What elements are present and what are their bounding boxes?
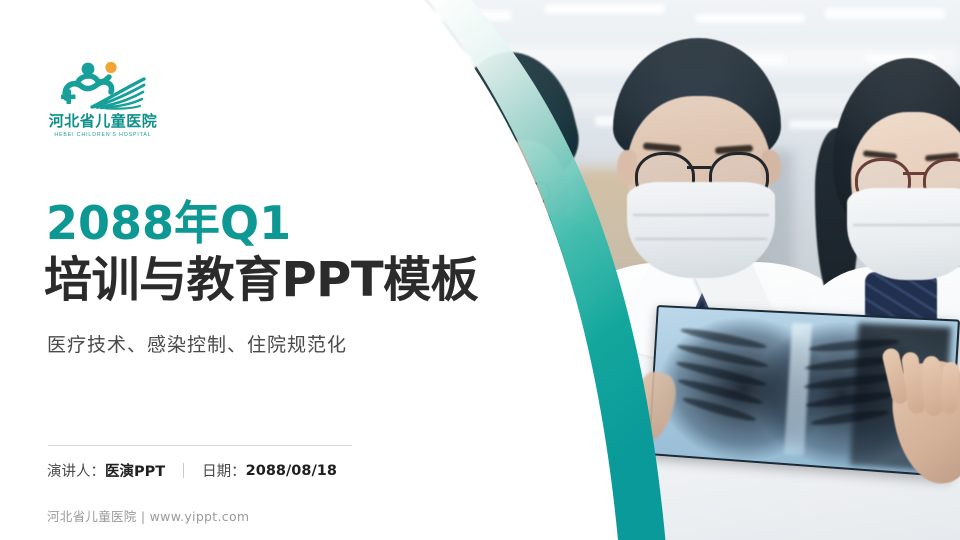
presenter-value: 医演PPT — [105, 460, 165, 481]
finger — [922, 356, 942, 417]
xray-spine — [784, 323, 812, 456]
title-line-1: 2088年Q1 — [46, 200, 291, 246]
ceiling-light — [695, 14, 805, 23]
slide-content: 河北省儿童医院 HEBEI CHILDREN'S HOSPITAL 2088年Q… — [0, 0, 520, 540]
logo-child-head — [105, 62, 116, 73]
hospital-logo: 河北省儿童医院 HEBEI CHILDREN'S HOSPITAL — [48, 58, 158, 144]
presentation-slide: 河北省儿童医院 HEBEI CHILDREN'S HOSPITAL 2088年Q… — [0, 0, 960, 540]
eyeglasses-bridge — [903, 172, 925, 175]
mask-fold — [633, 214, 769, 216]
date-label: 日期： — [202, 460, 246, 481]
meta-row: 演讲人： 医演PPT 日期： 2088/08/18 — [47, 460, 337, 481]
mask-fold — [853, 224, 960, 226]
ceiling-light — [825, 8, 945, 19]
finger — [941, 362, 960, 415]
logo-cross-v — [66, 90, 71, 105]
logo-name-en: HEBEI CHILDREN'S HOSPITAL — [48, 132, 158, 138]
hospital-logo-icon — [48, 58, 158, 114]
meta-separator — [183, 463, 184, 478]
eyeglasses-bridge — [687, 166, 711, 169]
presenter-label: 演讲人： — [47, 460, 105, 481]
date-value: 2088/08/18 — [246, 463, 337, 479]
surgical-mask — [627, 182, 775, 278]
ear — [617, 150, 637, 184]
title-line-2: 培训与教育PPT模板 — [44, 256, 478, 304]
divider-line — [48, 445, 352, 446]
logo-name-cn: 河北省儿童医院 — [48, 114, 158, 129]
footer-text: 河北省儿童医院 | www.yippt.com — [47, 506, 249, 525]
subtitle: 医疗技术、感染控制、住院规范化 — [47, 336, 347, 355]
ceiling-light — [545, 4, 665, 14]
mask-fold — [635, 238, 767, 240]
